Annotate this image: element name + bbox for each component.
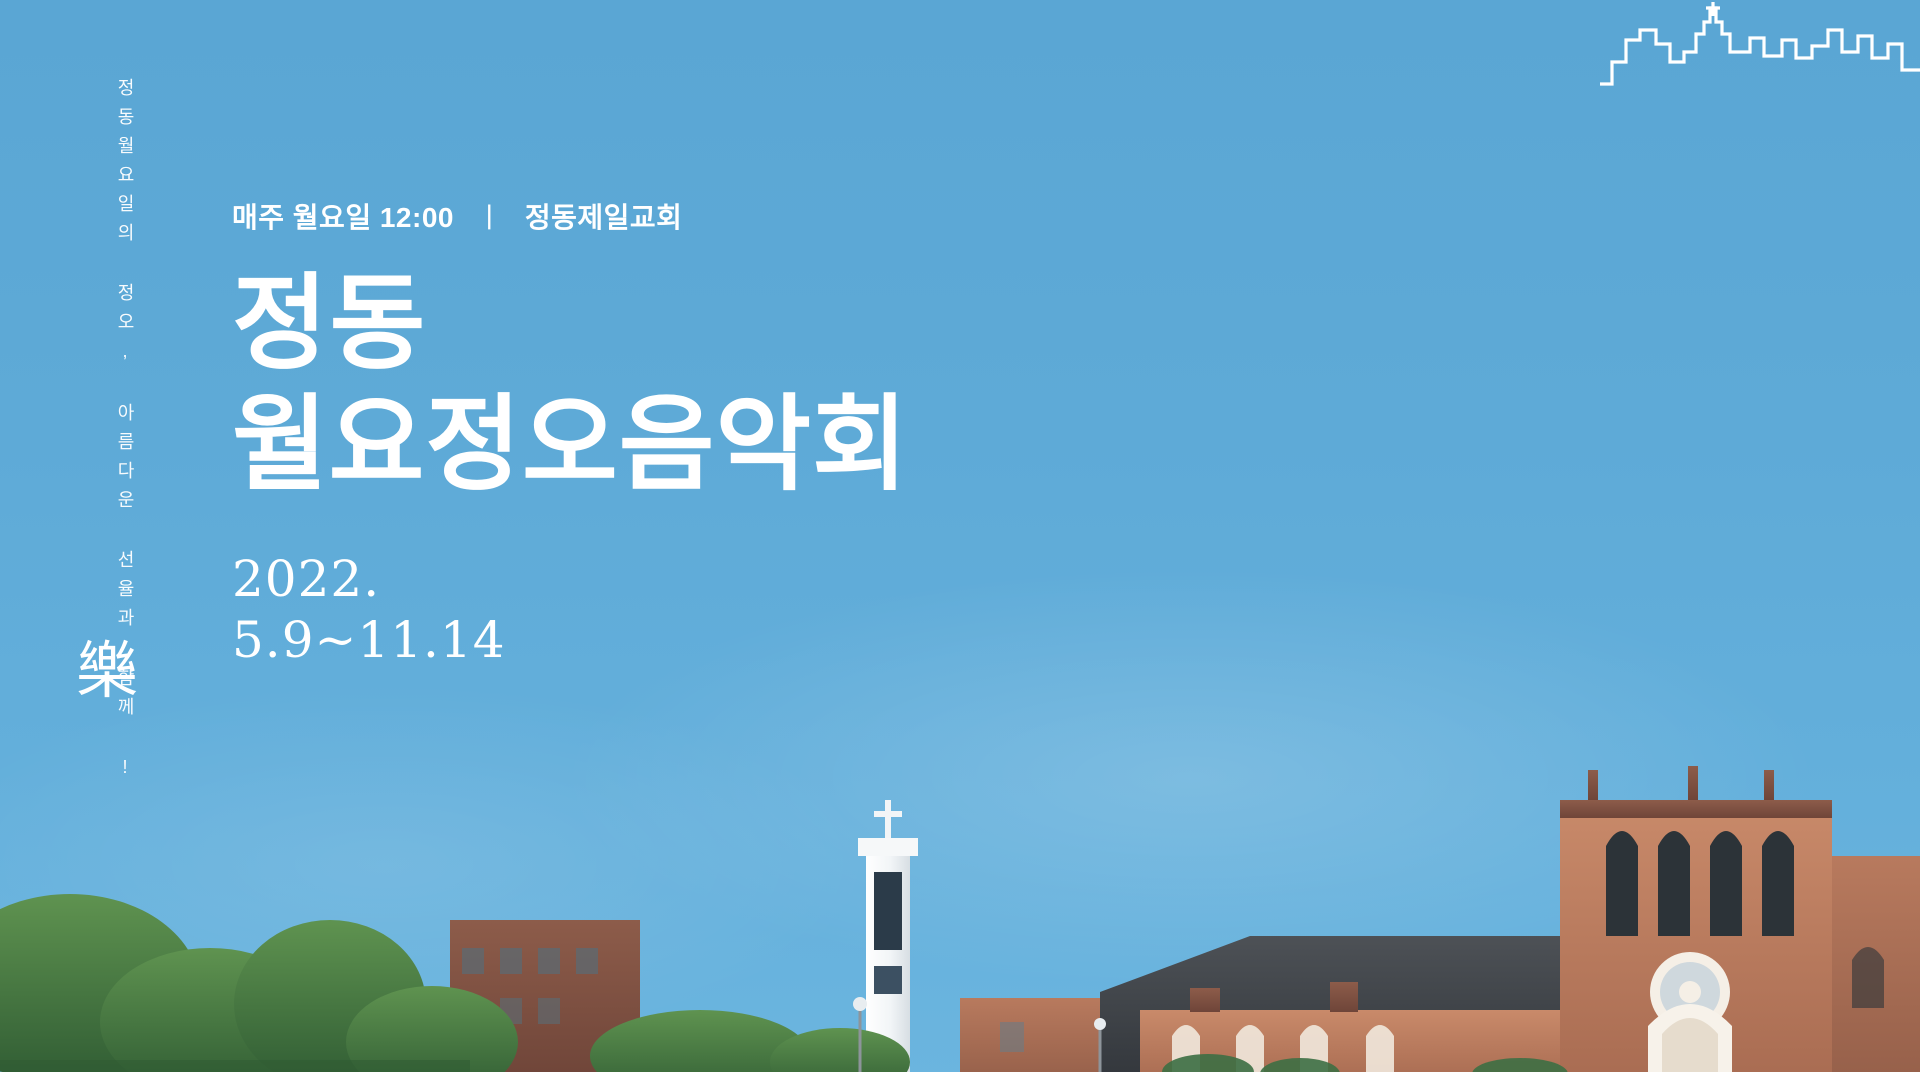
venue-name: 정동제일교회 [525, 202, 683, 233]
concert-poster: 정동월요일의 정오, 아름다운 선율과 함께 ! 樂 매주 월요일 12:00 … [0, 0, 1920, 1080]
church-skyline-icon [1600, 0, 1920, 100]
date-span: 5.9~11.14 [232, 610, 909, 671]
bottom-strip [0, 1072, 1920, 1080]
title-line-2: 월요정오음악회 [232, 387, 909, 503]
church-photo-scene [0, 760, 1920, 1080]
schedule-line: 매주 월요일 12:00 ㅣ 정동제일교회 [232, 196, 909, 236]
poster-content: 매주 월요일 12:00 ㅣ 정동제일교회 정동 월요정오음악회 2022. 5… [232, 196, 909, 671]
date-range: 2022. 5.9~11.14 [232, 549, 909, 671]
schedule-separator: ㅣ [462, 196, 516, 236]
page-title: 정동 월요정오음악회 [232, 264, 909, 505]
title-line-1: 정동 [232, 266, 427, 382]
music-character-mark: 樂 [76, 640, 138, 702]
date-year: 2022. [232, 549, 909, 610]
schedule-time: 매주 월요일 12:00 [232, 202, 454, 233]
